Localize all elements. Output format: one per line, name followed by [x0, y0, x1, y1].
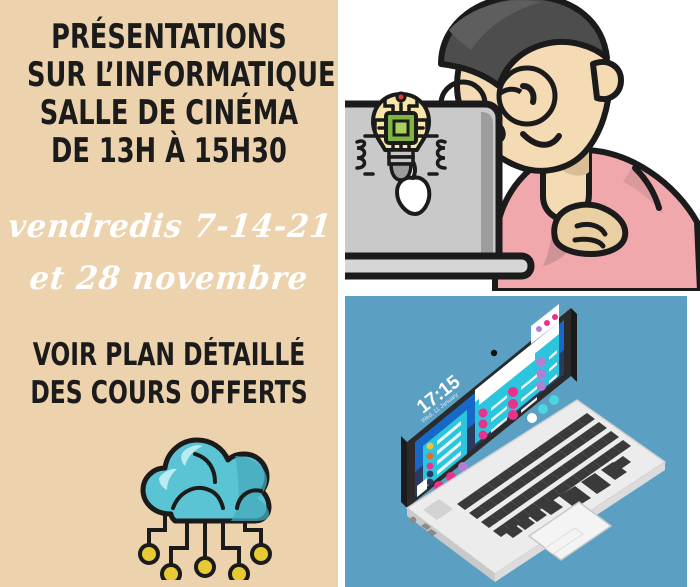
dates-line-1: vendredis 7-14-21 — [6, 200, 333, 252]
person-illustration-panel — [345, 0, 700, 291]
headline-line-1: PRÉSENTATIONS — [27, 18, 311, 56]
subheadline-block: VOIR PLAN DÉTAILLÉ DES COURS OFFERTS — [0, 336, 338, 412]
headline-line-3: SALLE DE CINÉMA — [27, 94, 311, 132]
laptop-illustration-panel: 17:15 Wed, 11 January — [345, 296, 687, 587]
subheadline-line-2: DES COURS OFFERTS — [27, 374, 311, 412]
headline-block: PRÉSENTATIONS SUR L’INFORMATIQUE SALLE D… — [0, 18, 338, 170]
subheadline-line-1: VOIR PLAN DÉTAILLÉ — [27, 336, 311, 374]
cloud-computing-icon — [135, 430, 275, 580]
headline-line-2: SUR L’INFORMATIQUE — [27, 56, 311, 94]
isometric-laptop-illustration: 17:15 Wed, 11 January — [345, 296, 687, 587]
dates-line-2: et 28 novembre — [6, 252, 333, 304]
dates-script-block: vendredis 7-14-21 et 28 novembre — [0, 200, 338, 304]
poster-root: PRÉSENTATIONS SUR L’INFORMATIQUE SALLE D… — [0, 0, 700, 587]
headline-line-4: DE 13H À 15H30 — [27, 132, 311, 170]
lightbulb-chip-icon — [353, 86, 449, 184]
left-info-panel: PRÉSENTATIONS SUR L’INFORMATIQUE SALLE D… — [0, 0, 338, 587]
